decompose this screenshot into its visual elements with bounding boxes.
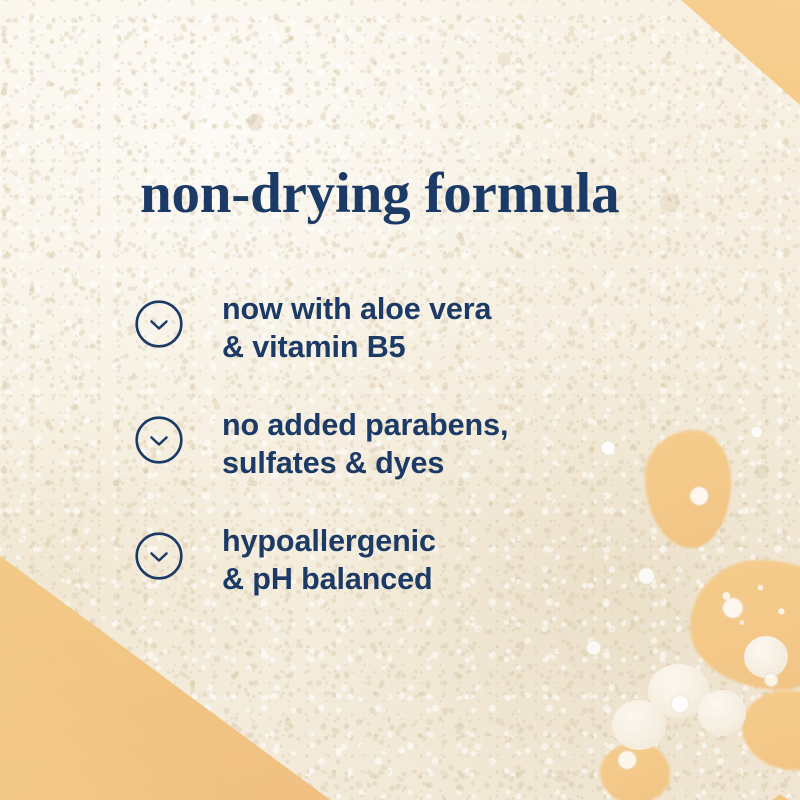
- benefit-label: hypoallergenic & pH balanced: [222, 522, 436, 598]
- benefit-list: now with aloe vera & vitamin B5 no added…: [135, 290, 695, 638]
- check-circle-icon: [135, 532, 183, 580]
- benefit-label: now with aloe vera & vitamin B5: [222, 290, 491, 366]
- check-circle-icon: [135, 300, 183, 348]
- peach-pool-bottom: [600, 742, 670, 800]
- list-item: hypoallergenic & pH balanced: [135, 522, 695, 638]
- benefit-label: no added parabens, sulfates & dyes: [222, 406, 508, 482]
- check-circle-icon: [135, 416, 183, 464]
- page-title: non-drying formula: [140, 164, 619, 224]
- list-item: now with aloe vera & vitamin B5: [135, 290, 695, 406]
- product-feature-graphic: non-drying formula now with aloe vera & …: [0, 0, 800, 800]
- list-item: no added parabens, sulfates & dyes: [135, 406, 695, 522]
